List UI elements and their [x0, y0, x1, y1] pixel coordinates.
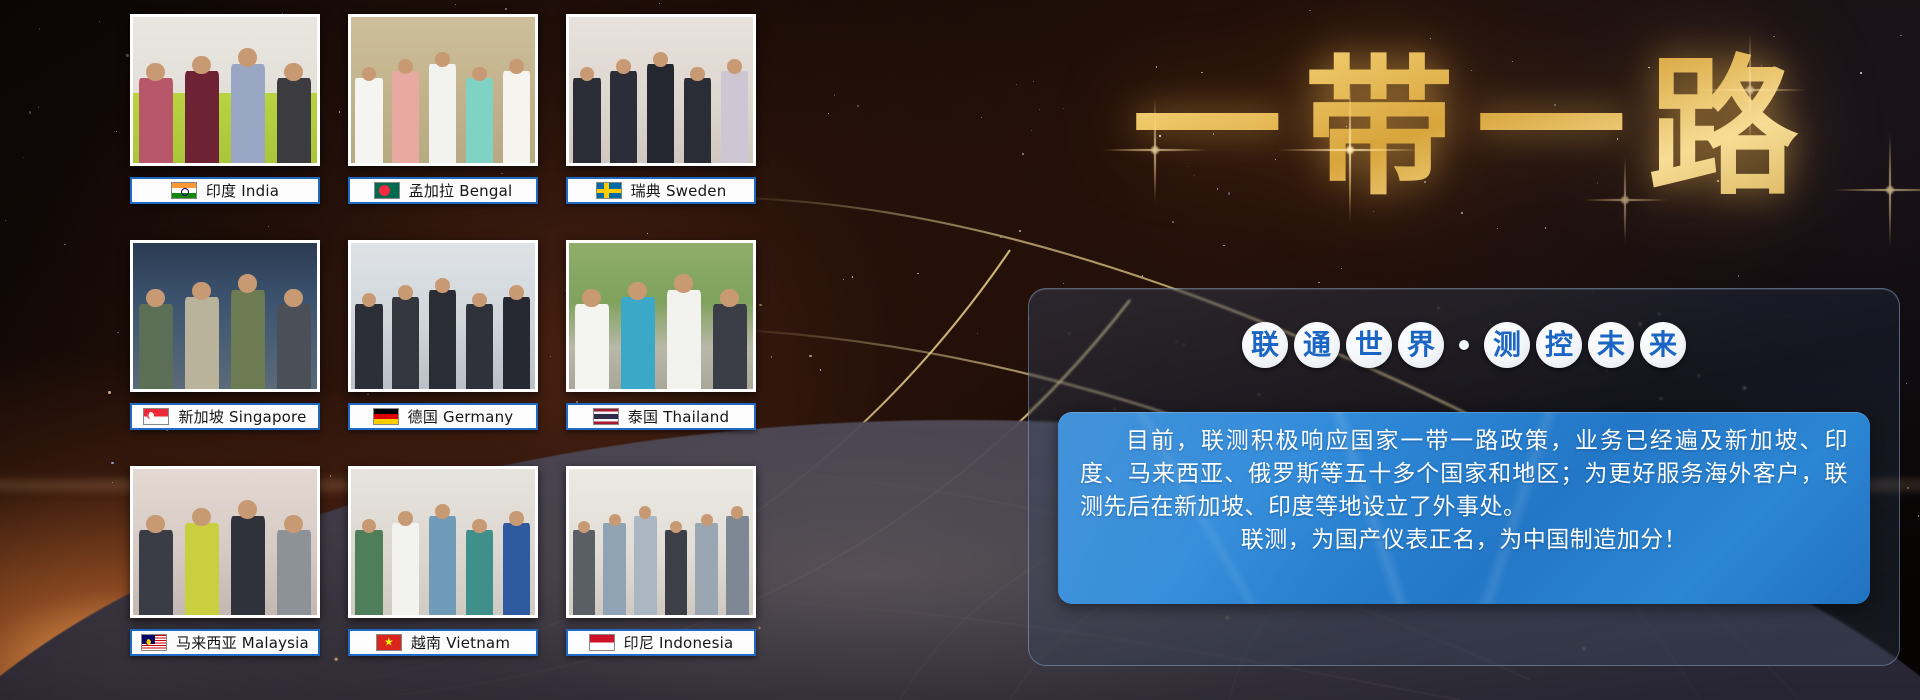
country-card[interactable]: 瑞典 Sweden — [566, 14, 756, 226]
country-label: 越南 Vietnam — [411, 632, 510, 653]
country-label: 印度 India — [206, 180, 279, 201]
country-card[interactable]: 泰国 Thailand — [566, 240, 756, 452]
slogan-char: 测 — [1484, 322, 1530, 368]
country-card[interactable]: 马来西亚 Malaysia — [130, 466, 320, 678]
india-flag-icon — [171, 182, 197, 199]
country-label: 印尼 Indonesia — [624, 632, 734, 653]
germany-flag-icon — [373, 408, 399, 425]
country-card[interactable]: 印尼 Indonesia — [566, 466, 756, 678]
singapore-flag-icon — [143, 408, 169, 425]
country-photo — [130, 466, 320, 618]
indonesia-flag-icon — [589, 634, 615, 651]
slogan-char: 控 — [1536, 322, 1582, 368]
country-card[interactable]: 新加坡 Singapore — [130, 240, 320, 452]
sweden-flag-icon — [596, 182, 622, 199]
country-caption: 越南 Vietnam — [348, 629, 538, 656]
slogan-char: 未 — [1588, 322, 1634, 368]
country-label: 马来西亚 Malaysia — [176, 632, 309, 653]
country-caption: 泰国 Thailand — [566, 403, 756, 430]
bangladesh-flag-icon — [374, 182, 400, 199]
country-caption: 马来西亚 Malaysia — [130, 629, 320, 656]
country-label: 瑞典 Sweden — [631, 180, 727, 201]
country-caption: 新加坡 Singapore — [130, 403, 320, 430]
country-caption: 印尼 Indonesia — [566, 629, 756, 656]
slogan-char: 世 — [1346, 322, 1392, 368]
description-paragraph-1: 目前，联测积极响应国家一带一路政策，业务已经遍及新加坡、印度、马来西亚、俄罗斯等… — [1080, 425, 1848, 524]
banner-root: 印度 India孟加拉 Bengal瑞典 Sweden新加坡 Singapore… — [0, 0, 1920, 700]
country-caption: 德国 Germany — [348, 403, 538, 430]
thailand-flag-icon — [593, 408, 619, 425]
country-photo — [348, 466, 538, 618]
country-label: 新加坡 Singapore — [178, 406, 306, 427]
country-photo — [566, 14, 756, 166]
country-photo — [130, 14, 320, 166]
description-paragraph-2: 联测，为国产仪表正名，为中国制造加分！ — [1080, 524, 1848, 557]
slogan-char: 界 — [1398, 322, 1444, 368]
malaysia-flag-icon — [141, 634, 167, 651]
slogan-char: 通 — [1294, 322, 1340, 368]
country-caption: 孟加拉 Bengal — [348, 177, 538, 204]
slogan-char: 来 — [1640, 322, 1686, 368]
country-label: 泰国 Thailand — [628, 406, 729, 427]
country-photo — [348, 14, 538, 166]
country-label: 孟加拉 Bengal — [409, 180, 513, 201]
country-photo-grid: 印度 India孟加拉 Bengal瑞典 Sweden新加坡 Singapore… — [130, 14, 770, 686]
country-caption: 瑞典 Sweden — [566, 177, 756, 204]
country-card[interactable]: 越南 Vietnam — [348, 466, 538, 678]
country-photo — [130, 240, 320, 392]
country-photo — [566, 240, 756, 392]
description-box: 目前，联测积极响应国家一带一路政策，业务已经遍及新加坡、印度、马来西亚、俄罗斯等… — [1058, 412, 1870, 604]
country-card[interactable]: 印度 India — [130, 14, 320, 226]
country-card[interactable]: 德国 Germany — [348, 240, 538, 452]
slogan-separator-dot — [1459, 340, 1469, 350]
vietnam-flag-icon — [376, 634, 402, 651]
company-slogan: 联通世界测控未来 — [1028, 322, 1900, 368]
country-photo — [566, 466, 756, 618]
country-caption: 印度 India — [130, 177, 320, 204]
country-label: 德国 Germany — [408, 406, 514, 427]
belt-and-road-title: 一带一路 — [1030, 8, 1900, 223]
country-photo — [348, 240, 538, 392]
slogan-char: 联 — [1242, 322, 1288, 368]
country-card[interactable]: 孟加拉 Bengal — [348, 14, 538, 226]
